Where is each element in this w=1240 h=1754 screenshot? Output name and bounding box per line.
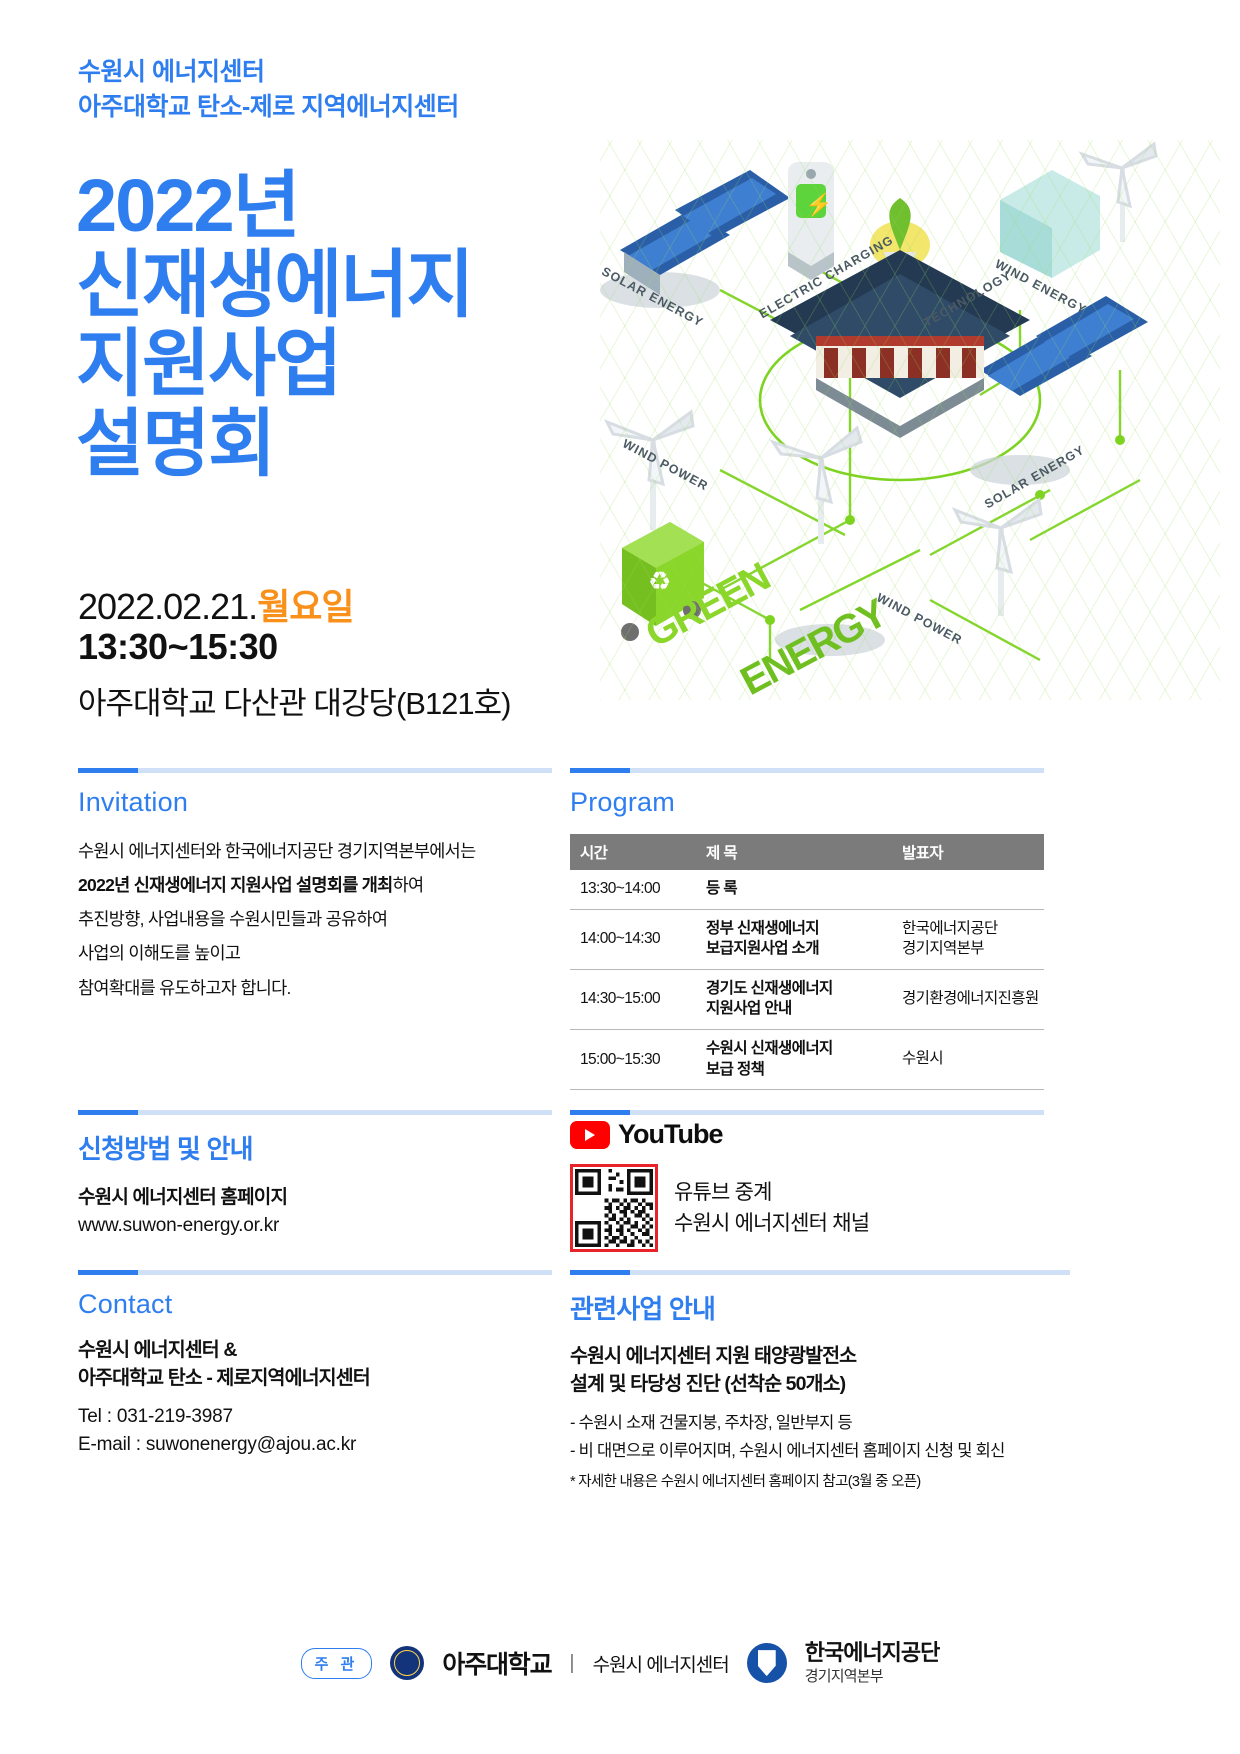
contact-tel: Tel : 031-219-3987 — [78, 1403, 552, 1432]
cell-title: 등 록 — [696, 870, 892, 909]
apply-section: 신청방법 및 안내 수원시 에너지센터 홈페이지 www.suwon-energ… — [78, 1110, 552, 1237]
title-line-4: 설명회 — [76, 404, 472, 483]
footer-kea-text: 한국에너지공단 경기지역본부 — [805, 1640, 940, 1686]
invitation-section: Invitation 수원시 에너지센터와 한국에너지공단 경기지역본부에서는 … — [78, 768, 552, 1005]
apply-divider — [78, 1110, 552, 1115]
kea-logo-icon — [747, 1643, 787, 1683]
table-row: 15:00~15:30 수원시 신재생에너지보급 정책 수원시 — [570, 1030, 1044, 1090]
host-org-line1: 수원시 에너지센터 — [78, 55, 459, 90]
cell-time: 13:30~14:00 — [570, 870, 696, 909]
invitation-body: 수원시 에너지센터와 한국에너지공단 경기지역본부에서는 2022년 신재생에너… — [78, 834, 552, 1005]
host-org-line2: 아주대학교 탄소-제로 지역에너지센터 — [78, 90, 459, 125]
apply-site-label: 수원시 에너지센터 홈페이지 — [78, 1182, 552, 1209]
title-line-3: 지원사업 — [76, 324, 472, 403]
related-note: * 자세한 내용은 수원시 에너지센터 홈페이지 참고(3월 중 오픈) — [570, 1470, 1070, 1491]
cell-speaker: 경기환경에너지진흥원 — [892, 969, 1044, 1029]
event-time: 13:30~15:30 — [78, 626, 278, 668]
apply-heading: 신청방법 및 안내 — [78, 1129, 552, 1166]
youtube-info-row: 유튜브 중계 수원시 에너지센터 채널 — [570, 1164, 1044, 1252]
cell-time: 14:30~15:00 — [570, 969, 696, 1029]
youtube-section: YouTube — [570, 1110, 1044, 1252]
cell-time: 14:00~14:30 — [570, 909, 696, 969]
invitation-line-4: 사업의 이해도를 높이고 — [78, 936, 552, 970]
related-subtitle-line-2: 설계 및 타당성 진단 (선착순 50개소) — [570, 1370, 1070, 1398]
related-divider — [570, 1270, 1070, 1275]
program-table-body: 13:30~14:00 등 록 14:00~14:30 정부 신재생에너지보급지… — [570, 870, 1044, 1090]
cell-speaker — [892, 870, 1044, 909]
related-heading: 관련사업 안내 — [570, 1289, 1070, 1326]
related-bullets: - 수원시 소재 건물지붕, 주차장, 일반부지 등 - 비 대면으로 이루어지… — [570, 1409, 1070, 1467]
table-header-row: 시간 제 목 발표자 — [570, 834, 1044, 870]
page-title: 2022년 신재생에너지 지원사업 설명회 — [76, 166, 472, 483]
footer-ajou-name: 아주대학교 — [442, 1645, 551, 1681]
cell-title: 경기도 신재생에너지지원사업 안내 — [696, 969, 892, 1029]
program-table: 시간 제 목 발표자 13:30~14:00 등 록 14:00~14:30 정… — [570, 834, 1044, 1090]
column-header-speaker: 발표자 — [892, 834, 1044, 870]
invitation-line-1: 수원시 에너지센터와 한국에너지공단 경기지역본부에서는 — [78, 834, 552, 868]
youtube-line-1: 유튜브 중계 — [674, 1177, 869, 1209]
related-section: 관련사업 안내 수원시 에너지센터 지원 태양광발전소 설계 및 타당성 진단 … — [570, 1270, 1070, 1491]
cell-speaker: 한국에너지공단경기지역본부 — [892, 909, 1044, 969]
invitation-heading: Invitation — [78, 787, 552, 818]
contact-org: 수원시 에너지센터 & 아주대학교 탄소 - 제로지역에너지센터 — [78, 1336, 552, 1393]
host-label-badge: 주 관 — [301, 1648, 373, 1679]
cell-time: 15:00~15:30 — [570, 1030, 696, 1090]
footer-separator: | — [569, 1652, 574, 1675]
table-row: 14:30~15:00 경기도 신재생에너지지원사업 안내 경기환경에너지진흥원 — [570, 969, 1044, 1029]
related-subtitle: 수원시 에너지센터 지원 태양광발전소 설계 및 타당성 진단 (선착순 50개… — [570, 1342, 1070, 1399]
column-header-title: 제 목 — [696, 834, 892, 870]
youtube-line-2: 수원시 에너지센터 채널 — [674, 1208, 869, 1240]
event-date: 2022.02.21.월요일 — [78, 578, 354, 630]
program-heading: Program — [570, 787, 1044, 818]
youtube-play-icon — [570, 1121, 610, 1149]
invitation-line-2-bold: 2022년 신재생에너지 지원사업 설명회를 개최 — [78, 875, 393, 895]
event-venue: 아주대학교 다산관 대강당(B121호) — [78, 678, 511, 723]
contact-divider — [78, 1270, 552, 1275]
title-line-1: 2022년 — [76, 166, 472, 245]
youtube-text: 유튜브 중계 수원시 에너지센터 채널 — [674, 1177, 869, 1240]
contact-section: Contact 수원시 에너지센터 & 아주대학교 탄소 - 제로지역에너지센터… — [78, 1270, 552, 1460]
invitation-line-2-tail: 하여 — [393, 875, 424, 895]
qr-code[interactable] — [570, 1164, 658, 1252]
cell-speaker: 수원시 — [892, 1030, 1044, 1090]
invitation-line-3: 추진방향, 사업내용을 수원시민들과 공유하여 — [78, 902, 552, 936]
footer-suwon-center: 수원시 에너지센터 — [593, 1650, 729, 1677]
event-day-of-week: 월요일 — [257, 586, 353, 627]
qr-code-icon — [575, 1169, 653, 1247]
footer-logos: 주 관 아주대학교 | 수원시 에너지센터 한국에너지공단 경기지역본부 — [0, 1640, 1240, 1686]
cell-title: 수원시 신재생에너지보급 정책 — [696, 1030, 892, 1090]
cell-title: 정부 신재생에너지보급지원사업 소개 — [696, 909, 892, 969]
youtube-logo[interactable]: YouTube — [570, 1119, 1044, 1150]
related-bullet-2: - 비 대면으로 이루어지며, 수원시 에너지센터 홈페이지 신청 및 회신 — [570, 1437, 1070, 1466]
footer-kea-branch: 경기지역본부 — [805, 1665, 940, 1686]
energy-illustration: ⚡ — [600, 140, 1220, 700]
contact-org-line-1: 수원시 에너지센터 & — [78, 1336, 552, 1364]
column-header-time: 시간 — [570, 834, 696, 870]
program-divider — [570, 768, 1044, 773]
contact-org-line-2: 아주대학교 탄소 - 제로지역에너지센터 — [78, 1364, 552, 1392]
footer-kea-name: 한국에너지공단 — [805, 1640, 940, 1665]
youtube-divider — [570, 1110, 1044, 1115]
table-row: 14:00~14:30 정부 신재생에너지보급지원사업 소개 한국에너지공단경기… — [570, 909, 1044, 969]
related-subtitle-line-1: 수원시 에너지센터 지원 태양광발전소 — [570, 1342, 1070, 1370]
youtube-brand-label: YouTube — [618, 1119, 722, 1150]
ajou-seal-icon — [390, 1646, 424, 1680]
invitation-divider — [78, 768, 552, 773]
host-organizations: 수원시 에너지센터 아주대학교 탄소-제로 지역에너지센터 — [78, 55, 459, 124]
invitation-line-5: 참여확대를 유도하고자 합니다. — [78, 971, 552, 1005]
related-bullet-1: - 수원시 소재 건물지붕, 주차장, 일반부지 등 — [570, 1409, 1070, 1438]
contact-details: Tel : 031-219-3987 E-mail : suwonenergy@… — [78, 1403, 552, 1460]
program-section: Program 시간 제 목 발표자 13:30~14:00 등 록 14:00… — [570, 768, 1044, 1090]
apply-site-url[interactable]: www.suwon-energy.or.kr — [78, 1215, 552, 1237]
title-line-2: 신재생에너지 — [76, 245, 472, 324]
invitation-line-2: 2022년 신재생에너지 지원사업 설명회를 개최하여 — [78, 868, 552, 902]
contact-heading: Contact — [78, 1289, 552, 1320]
table-row: 13:30~14:00 등 록 — [570, 870, 1044, 909]
contact-email[interactable]: E-mail : suwonenergy@ajou.ac.kr — [78, 1431, 552, 1460]
event-date-value: 2022.02.21. — [78, 586, 257, 627]
